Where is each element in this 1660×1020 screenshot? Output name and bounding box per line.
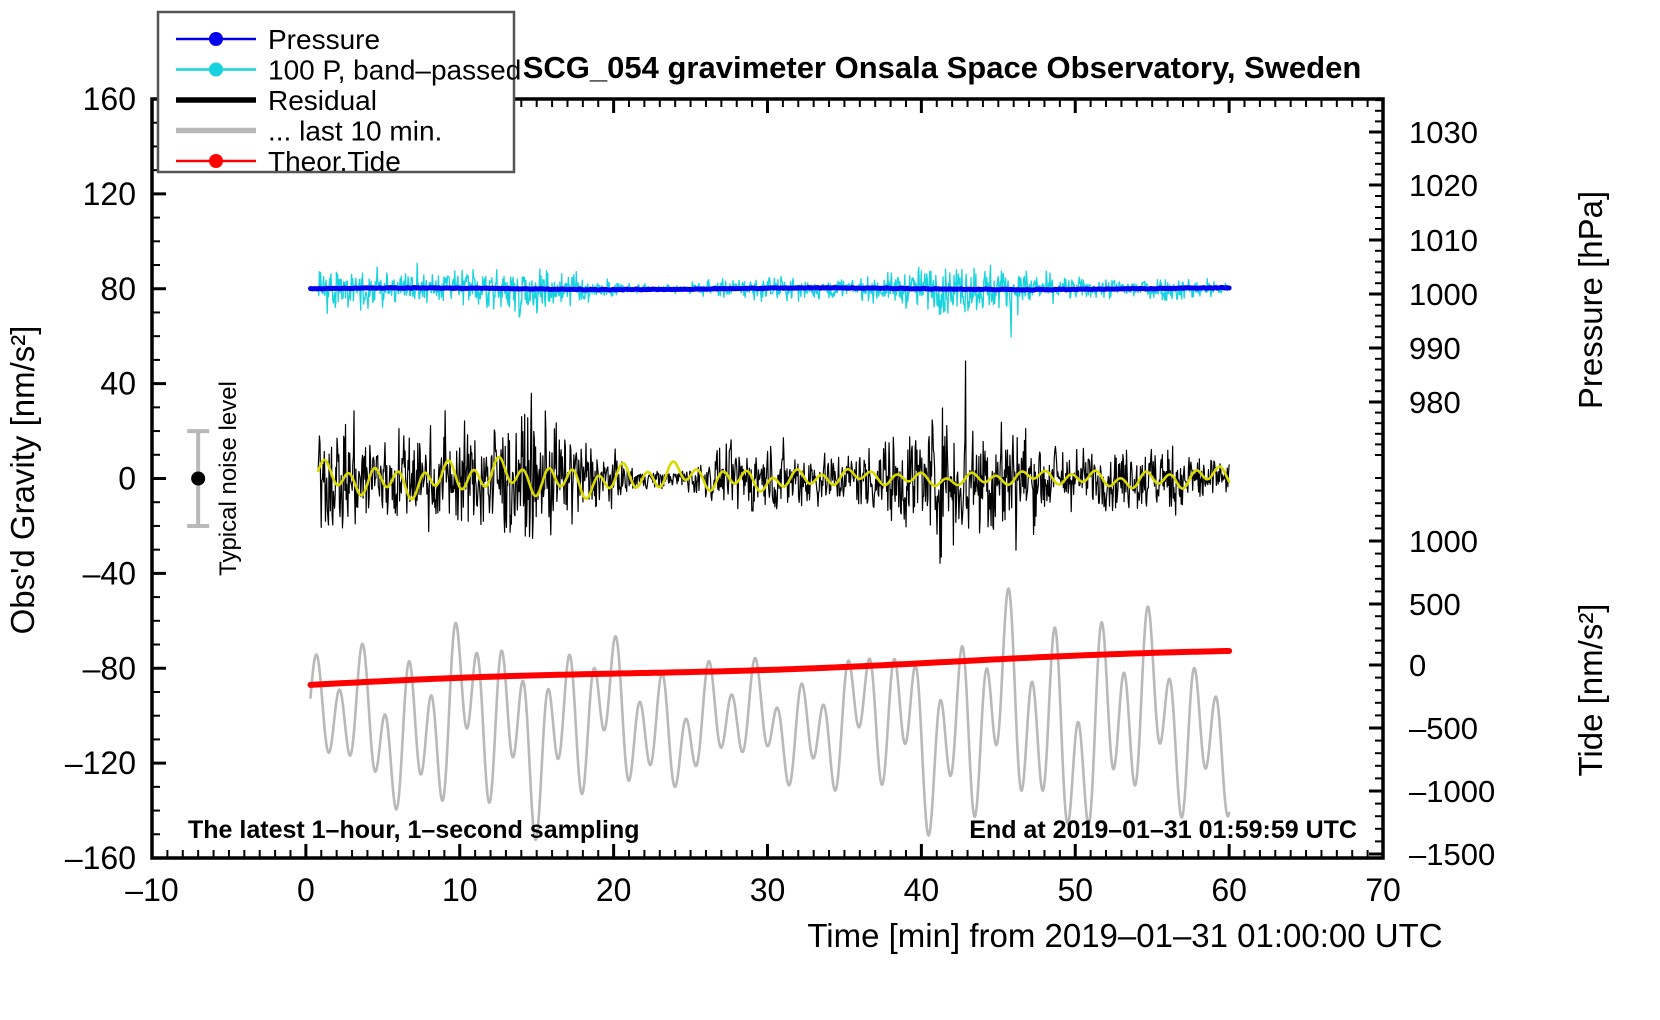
tide-tick-label: 500 [1409, 587, 1461, 622]
chart-title: SCG_054 gravimeter Onsala Space Observat… [523, 50, 1362, 85]
y-tick-label: –160 [65, 840, 136, 876]
pressure-tick-label: 1000 [1409, 277, 1478, 312]
pressure-tick-label: 1010 [1409, 223, 1478, 258]
chart-canvas: –1001020304050607016012080400–40–80–120–… [0, 0, 1660, 1020]
tide-tick-label: –1500 [1409, 837, 1495, 872]
tide-tick-label: –1000 [1409, 774, 1495, 809]
tide-tick-label: 0 [1409, 648, 1426, 683]
legend-item-label: Residual [268, 85, 377, 116]
y-tick-label: –80 [83, 650, 136, 686]
noise-marker-dot [191, 472, 205, 486]
legend-swatch-marker [209, 63, 223, 77]
tide-tick-label: 1000 [1409, 524, 1478, 559]
x-tick-label: 60 [1211, 872, 1247, 908]
pressure-tick-label: 1020 [1409, 168, 1478, 203]
y-tick-label: –120 [65, 745, 136, 781]
pressure-tick-label: 980 [1409, 385, 1461, 420]
legend-item-label: 100 P, band–passed [268, 55, 521, 86]
x-tick-label: 0 [297, 872, 315, 908]
pressure-tick-label: 990 [1409, 331, 1461, 366]
x-tick-label: –10 [125, 872, 178, 908]
y-axis-title-pressure: Pressure [hPa] [1572, 191, 1609, 409]
x-tick-label: 70 [1365, 872, 1401, 908]
y-axis-title-left: Obs'd Gravity [nm/s²] [4, 326, 41, 635]
legend-item-label: Pressure [268, 24, 380, 55]
tide-tick-label: –500 [1409, 711, 1478, 746]
y-tick-label: 0 [118, 461, 136, 497]
gravimeter-timeseries-plot: –1001020304050607016012080400–40–80–120–… [0, 0, 1660, 1020]
y-tick-label: 160 [83, 81, 136, 117]
x-tick-label: 50 [1057, 872, 1093, 908]
legend[interactable]: Pressure100 P, band–passedResidual... la… [158, 12, 521, 177]
bottom-right-note: End at 2019–01–31 01:59:59 UTC [969, 816, 1357, 844]
y-axis-title-tide: Tide [nm/s²] [1572, 604, 1609, 777]
x-tick-label: 10 [442, 872, 478, 908]
x-tick-label: 20 [596, 872, 632, 908]
legend-swatch-marker [209, 32, 223, 46]
bottom-left-note: The latest 1–hour, 1–second sampling [188, 816, 640, 844]
pressure-tick-label: 1030 [1409, 115, 1478, 150]
noise-marker-label: Typical noise level [215, 381, 242, 576]
series-pressure [310, 287, 1229, 290]
legend-item-label: Theor.Tide [268, 146, 401, 177]
x-axis-title: Time [min] from 2019–01–31 01:00:00 UTC [807, 917, 1442, 954]
legend-item-label: ... last 10 min. [268, 116, 442, 147]
legend-swatch-marker [209, 154, 223, 168]
x-tick-label: 30 [750, 872, 786, 908]
y-tick-label: 80 [100, 271, 136, 307]
x-tick-label: 40 [904, 872, 940, 908]
y-tick-label: 40 [100, 366, 136, 402]
y-tick-label: –40 [83, 555, 136, 591]
y-tick-label: 120 [83, 176, 136, 212]
